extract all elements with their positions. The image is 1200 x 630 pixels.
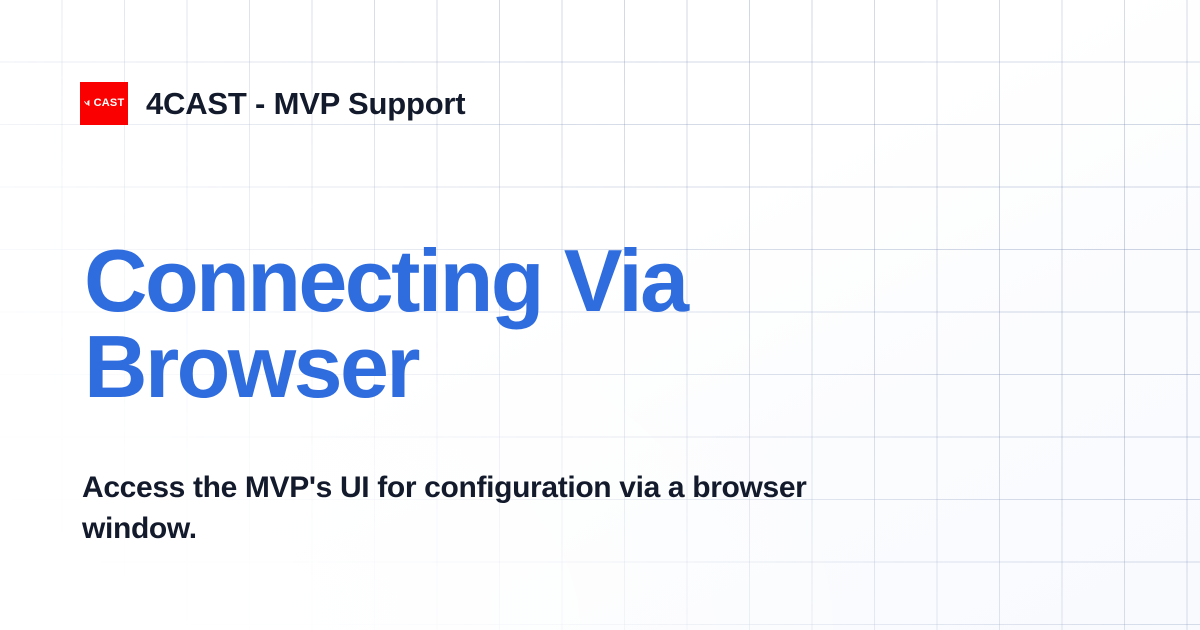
logo-wordmark-group: CAST xyxy=(84,98,125,109)
logo-cast-text: CAST xyxy=(94,98,125,109)
page-subtitle: Access the MVP's UI for configuration vi… xyxy=(82,468,872,550)
header-title: 4CAST - MVP Support xyxy=(146,88,465,119)
social-card: CAST 4CAST - MVP Support Connecting Via … xyxy=(0,0,1200,630)
logo-four-glyph-icon xyxy=(84,99,93,107)
brand-header: CAST 4CAST - MVP Support xyxy=(80,80,465,126)
page-title: Connecting Via Browser xyxy=(84,238,864,410)
4cast-logo-icon: CAST xyxy=(80,82,128,125)
card-content: CAST 4CAST - MVP Support Connecting Via … xyxy=(0,0,1200,630)
